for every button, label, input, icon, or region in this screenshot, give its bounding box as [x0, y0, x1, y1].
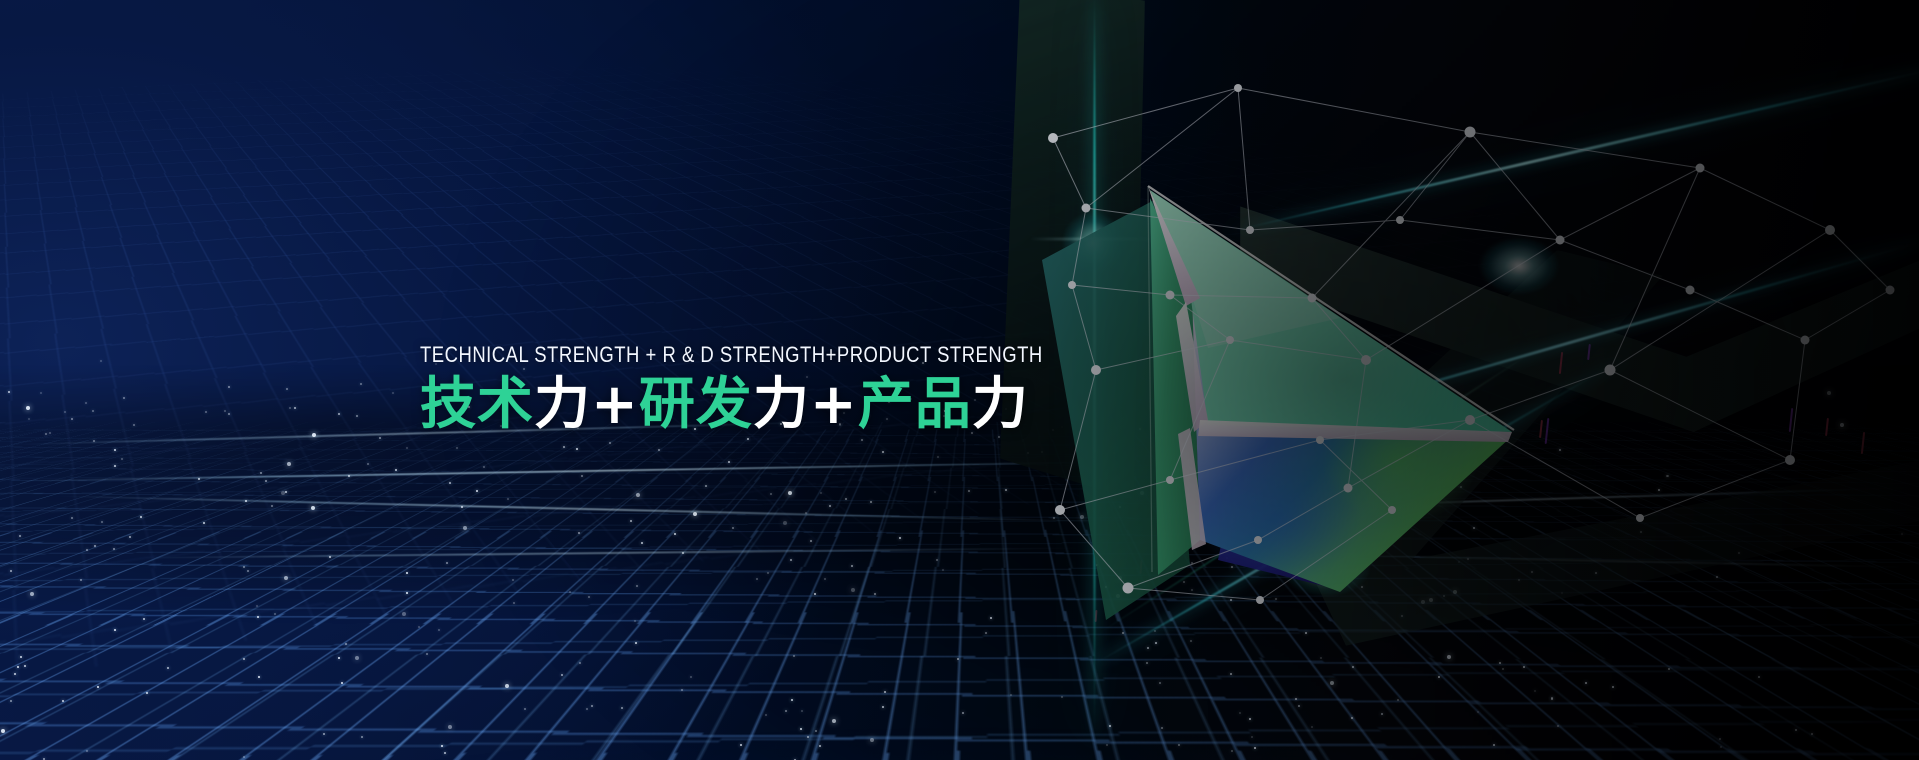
headline-plus-2: + — [810, 372, 858, 437]
headline-segment-white-2: 力 — [753, 372, 810, 437]
hero-eyebrow-english: TECHNICAL STRENGTH + R & D STRENGTH+PROD… — [420, 342, 1043, 368]
headline-plus-1: + — [591, 372, 639, 437]
hero-banner: TECHNICAL STRENGTH + R & D STRENGTH+PROD… — [0, 0, 1919, 760]
hero-text-block: TECHNICAL STRENGTH + R & D STRENGTH+PROD… — [420, 342, 1161, 436]
headline-segment-white-1: 力 — [534, 372, 591, 437]
headline-segment-white-3: 力 — [972, 372, 1029, 437]
headline-segment-green-1: 技术 — [420, 372, 534, 437]
headline-segment-green-3: 产品 — [858, 372, 972, 437]
hero-headline-chinese: 技术力+研发力+产品力 — [420, 374, 1161, 436]
headline-segment-green-2: 研发 — [639, 372, 753, 437]
